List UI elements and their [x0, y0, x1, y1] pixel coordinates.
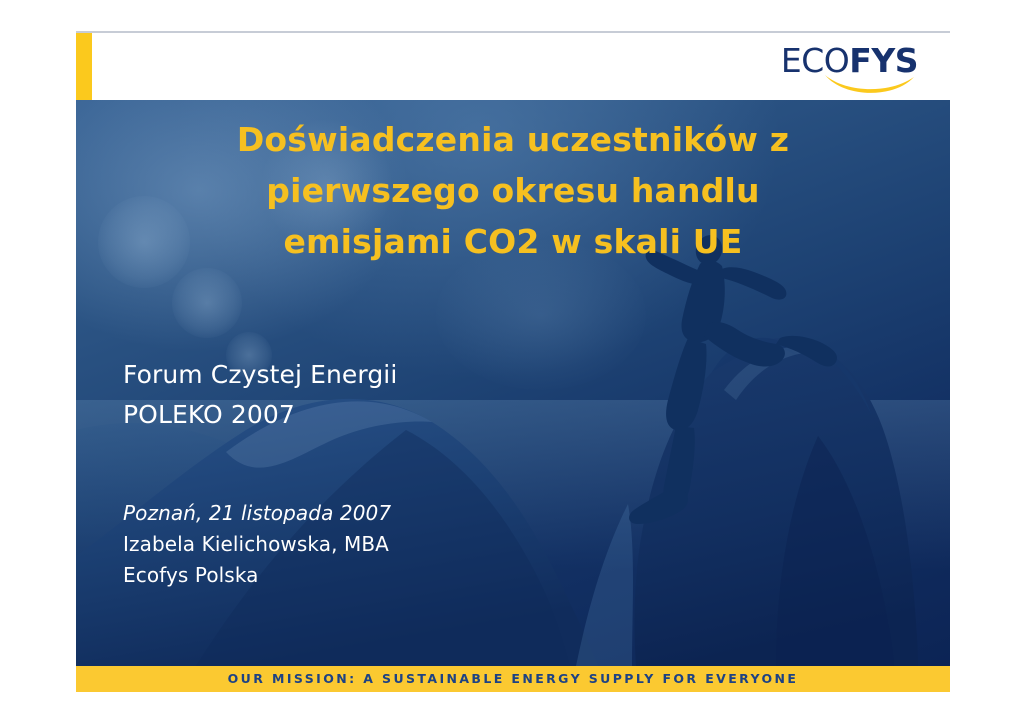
slide-header: ECOFYS — [76, 33, 950, 100]
logo-swoosh-icon — [824, 73, 916, 93]
slide-footer: OUR MISSION: A SUSTAINABLE ENERGY SUPPLY… — [76, 666, 950, 692]
slide-body: Doświadczenia uczestników z pierwszego o… — [76, 100, 950, 666]
detail-author: Izabela Kielichowska, MBA — [123, 529, 391, 560]
ecofys-logo: ECOFYS — [770, 43, 918, 95]
slide-subtitle: Forum Czystej Energii POLEKO 2007 — [123, 355, 397, 435]
detail-place-date: Poznań, 21 listopada 2007 — [123, 498, 391, 529]
subtitle-line-conference: POLEKO 2007 — [123, 395, 397, 435]
subtitle-line-event: Forum Czystej Energii — [123, 355, 397, 395]
slide-title-line-1: Doświadczenia uczestników z — [126, 114, 900, 165]
detail-organisation: Ecofys Polska — [123, 560, 391, 591]
slide-title: Doświadczenia uczestników z pierwszego o… — [126, 114, 900, 267]
slide-details: Poznań, 21 listopada 2007 Izabela Kielic… — [123, 498, 391, 591]
header-accent-bar — [76, 33, 92, 100]
footer-mission-statement: OUR MISSION: A SUSTAINABLE ENERGY SUPPLY… — [76, 666, 950, 692]
slide-title-line-3: emisjami CO2 w skali UE — [126, 216, 900, 267]
slide-page: ECOFYS — [0, 0, 1024, 724]
slide-title-line-2: pierwszego okresu handlu — [126, 165, 900, 216]
slide-text-layer: Doświadczenia uczestników z pierwszego o… — [76, 100, 950, 666]
